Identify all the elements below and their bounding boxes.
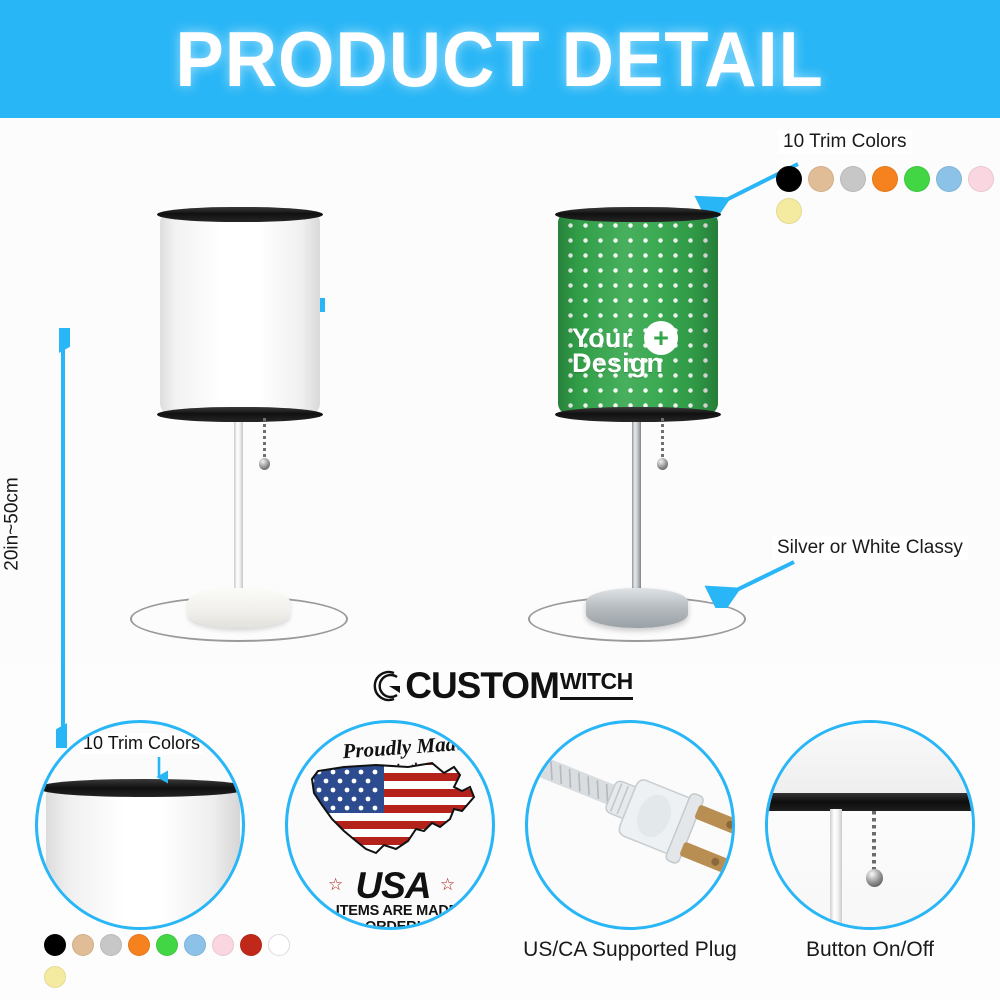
pull-chain-bead[interactable] [657,458,668,470]
shade-trim-bottom [157,407,323,422]
pull-chain-bead[interactable] [259,458,270,470]
lamp-shade-green: Your Design + [558,213,718,413]
shade-shading-overlay [558,213,718,413]
panel-plug-caption: US/CA Supported Plug [510,938,750,962]
base-finish-callout-label: Silver or White Classy [772,536,968,560]
brand-underline [560,697,633,700]
trim-swatch-gray[interactable] [100,934,122,956]
brand-logo: CUSTOM WITCH [0,660,1000,712]
usa-word: USA [288,865,495,907]
trim-swatch-light-blue[interactable] [936,166,962,192]
trim-swatch-row-bottom-secondary [44,966,66,988]
shade-bottom-closeup [768,723,975,801]
trim-colors-callout-label: 10 Trim Colors [778,130,912,154]
shade-trim-top [157,207,323,222]
trim-swatch-green[interactable] [904,166,930,192]
trim-swatch-row-top-secondary [776,198,802,224]
brand-c-mark-icon [367,667,407,705]
trim-swatch-orange[interactable] [872,166,898,192]
plus-icon[interactable]: + [644,321,678,355]
usa-tagline: ALL ITEMS ARE MADE TO ORDER! [288,903,495,930]
feature-panels: 10 Trim Colors Proudly Made in the [0,716,1000,1000]
panel-circle [765,720,975,930]
shade-trim-top [555,207,721,222]
panel-circle: Proudly Made in the [285,720,495,930]
trim-swatch-black[interactable] [44,934,66,956]
trim-swatch-light-blue[interactable] [184,934,206,956]
pull-chain-bead-closeup[interactable] [866,869,883,887]
shade-closeup [46,785,240,930]
shade-trim-closeup [42,779,244,797]
usa-star-right-icon: ☆ [440,875,455,895]
base-finish-arrow-icon [700,558,800,608]
panel-button-caption: Button On/Off [750,938,990,962]
trim-swatch-dark-red[interactable] [240,934,262,956]
pull-chain[interactable] [263,418,266,460]
panel-made-in-usa: Proudly Made in the [270,716,510,1000]
product-detail-infographic: PRODUCT DETAIL 7in~18cm 20in~50cm [0,0,1000,1000]
trim-colors-down-arrow-icon [150,755,168,787]
trim-swatch-row-top-primary [776,166,1000,192]
panel-trim-colors: 10 Trim Colors [20,716,260,1000]
trim-swatch-yellow[interactable] [44,966,66,988]
design-line-2: Design [572,351,663,377]
lamp-pole-closeup [830,809,842,930]
lamp-pole [632,414,641,596]
trim-swatch-yellow[interactable] [776,198,802,224]
lamp-shade-white [160,213,320,413]
page-title: PRODUCT DETAIL [176,14,824,105]
shade-trim-closeup [765,793,975,811]
panel-button-onoff: Button On/Off [750,716,990,1000]
lamp-base-silver [586,588,688,628]
header-banner: PRODUCT DETAIL [0,0,1000,118]
panel-circle: 10 Trim Colors [35,720,245,930]
trim-swatch-pink[interactable] [212,934,234,956]
height-dimension-label: 20in~50cm [2,477,24,570]
trim-swatch-green[interactable] [156,934,178,956]
brand-name-sub: WITCH [560,668,633,695]
panel-plug: US/CA Supported Plug [510,716,750,1000]
pull-chain-closeup[interactable] [872,811,876,873]
brand-name-main: CUSTOM [405,665,559,707]
trim-swatch-tan[interactable] [808,166,834,192]
panel-trim-colors-label: 10 Trim Colors [80,733,203,754]
lamp-base-white [188,588,290,628]
panel-circle [525,720,735,930]
main-stage: 7in~18cm 20in~50cm [0,118,1000,663]
trim-swatch-black[interactable] [776,166,802,192]
trim-swatch-row-bottom-primary [44,934,290,956]
pull-chain[interactable] [661,418,664,460]
shade-surface [160,213,320,413]
shade-trim-bottom [555,407,721,422]
trim-swatch-gray[interactable] [840,166,866,192]
lamp-pole [234,414,243,596]
usa-map-flag-icon [304,757,482,869]
power-plug-icon [528,723,735,930]
trim-swatch-tan[interactable] [72,934,94,956]
trim-swatch-pink[interactable] [968,166,994,192]
trim-swatch-orange[interactable] [128,934,150,956]
